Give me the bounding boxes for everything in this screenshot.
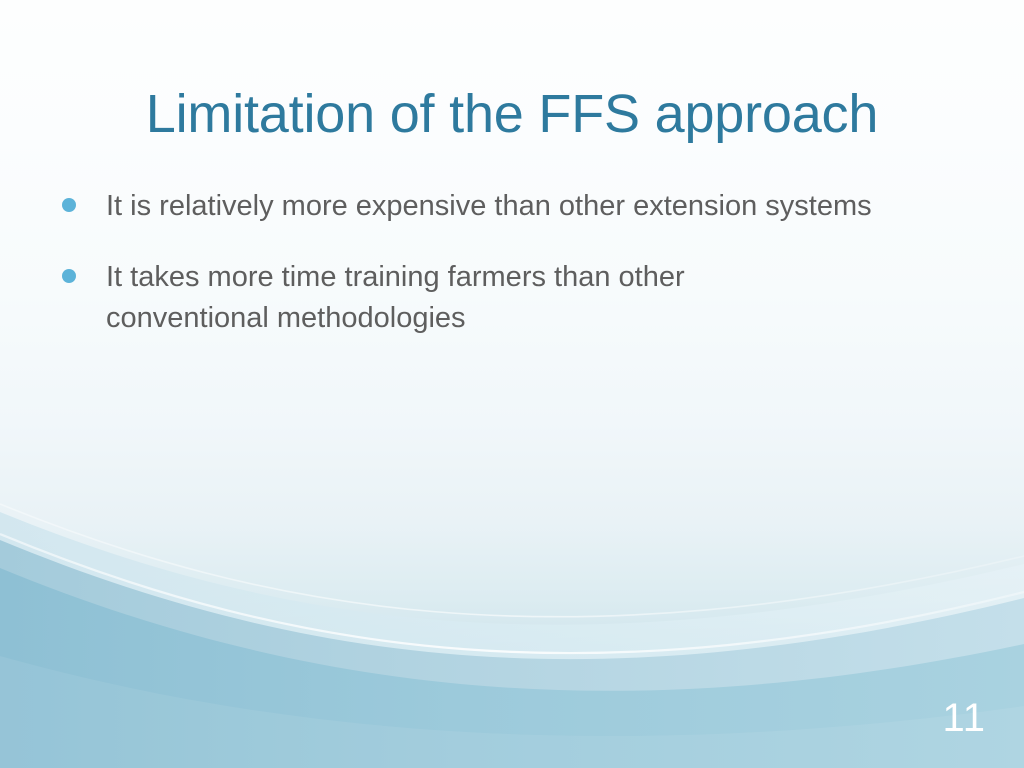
filled-circle-bullet-icon [62, 269, 76, 283]
bullet-list-item: It is relatively more expensive than oth… [62, 186, 942, 227]
bullet-item-text: It takes more time training farmers than… [106, 257, 826, 339]
bullet-list-item: It takes more time training farmers than… [62, 257, 942, 339]
slide-body-content: It is relatively more expensive than oth… [62, 186, 942, 339]
presentation-slide: Limitation of the FFS approach It is rel… [0, 0, 1024, 768]
background-wave-decoration [0, 468, 1024, 768]
bullet-item-text: It is relatively more expensive than oth… [106, 186, 906, 227]
filled-circle-bullet-icon [62, 198, 76, 212]
slide-number: 11 [942, 698, 986, 738]
slide-title: Limitation of the FFS approach [64, 82, 960, 146]
